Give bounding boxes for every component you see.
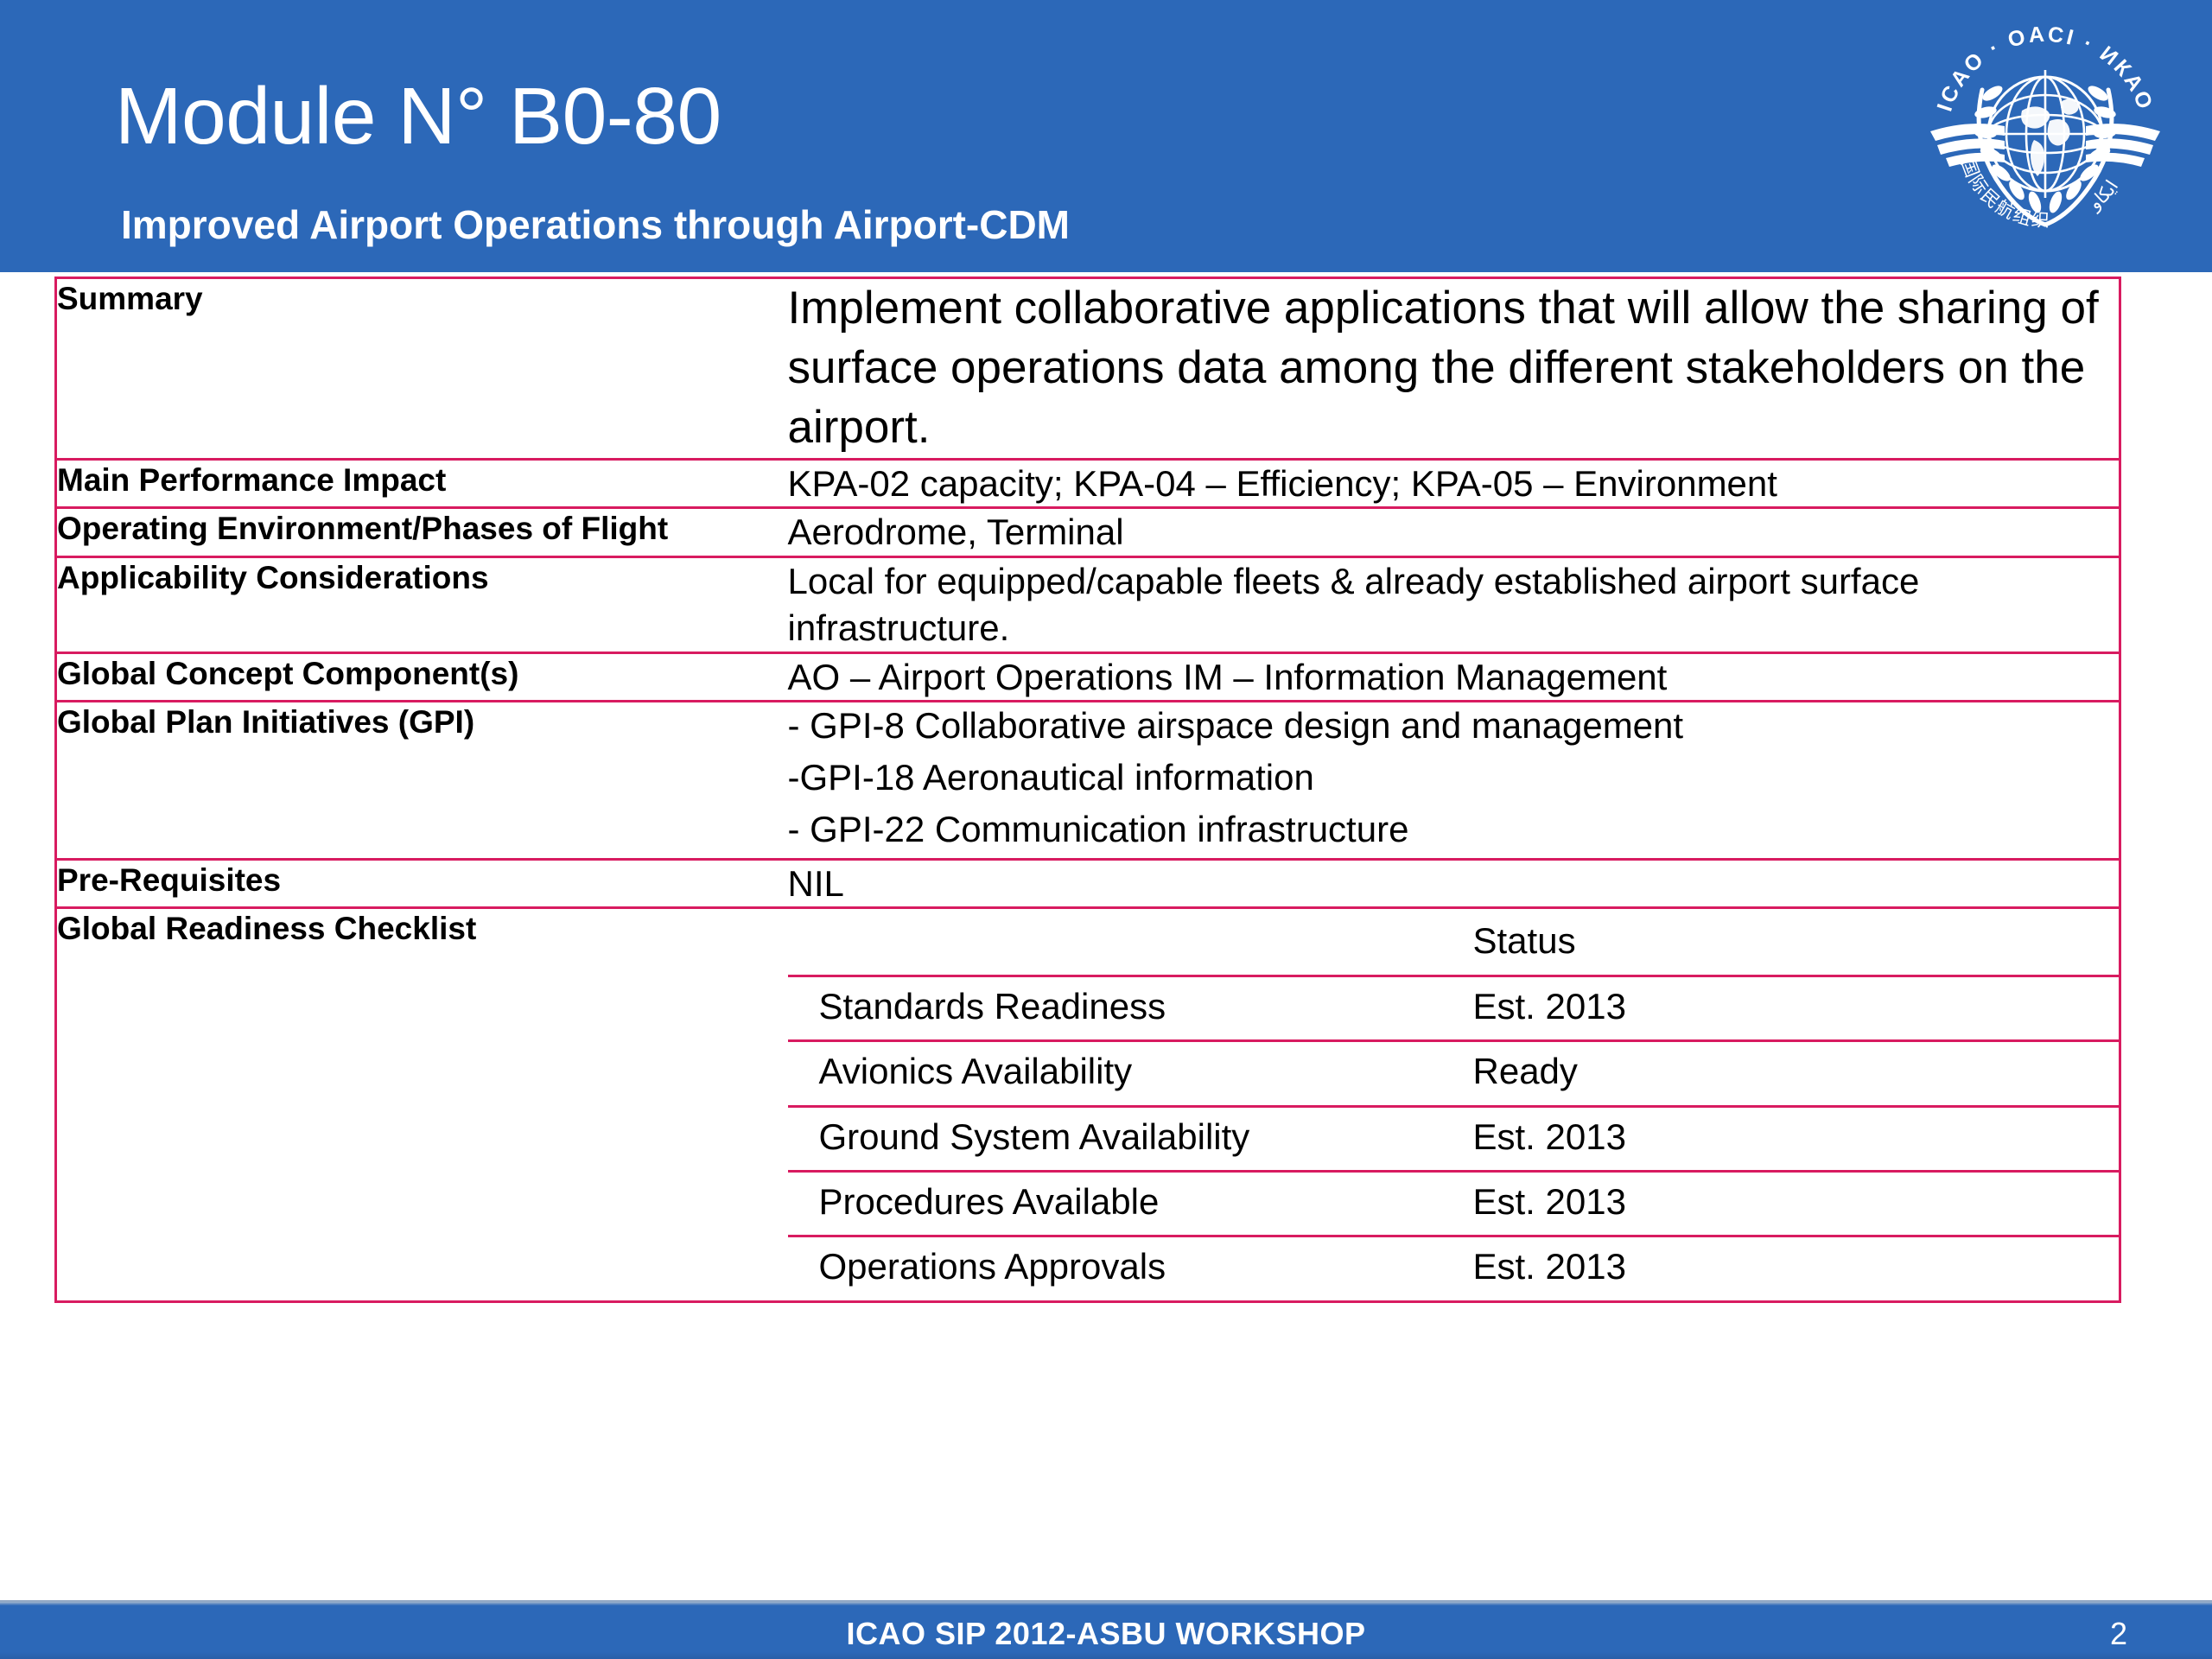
checklist-row: Operations Approvals Est. 2013 (788, 1236, 2120, 1300)
checklist-spacer (788, 909, 804, 976)
row-value: AO – Airport Operations IM – Information… (788, 652, 2120, 702)
table-row-main-performance-impact: Main Performance Impact KPA-02 capacity;… (56, 459, 2120, 508)
row-value: KPA-02 capacity; KPA-04 – Efficiency; KP… (788, 459, 2120, 508)
readiness-checklist-table: Status Standards Readiness Est. 2013 Avi… (788, 909, 2120, 1300)
row-label: Main Performance Impact (56, 459, 788, 508)
row-value: Aerodrome, Terminal (788, 508, 2120, 557)
slide-header: Module N° B0-80 Improved Airport Operati… (0, 0, 2212, 272)
checklist-spacer (788, 1106, 804, 1171)
slide-footer: ICAO SIP 2012-ASBU WORKSHOP 2 (0, 1600, 2212, 1659)
row-label: Global Readiness Checklist (56, 908, 788, 1301)
row-label: Global Concept Component(s) (56, 652, 788, 702)
table-row-applicability-considerations: Applicability Considerations Local for e… (56, 557, 2120, 653)
checklist-status-header: Status (1473, 909, 2120, 976)
checklist-spacer (788, 976, 804, 1040)
checklist-item-name: Operations Approvals (804, 1236, 1473, 1300)
checklist-item-status: Est. 2013 (1473, 976, 2120, 1040)
checklist-item-status: Est. 2013 (1473, 1171, 2120, 1236)
checklist-row: Avionics Availability Ready (788, 1041, 2120, 1106)
checklist-item-status: Est. 2013 (1473, 1236, 2120, 1300)
row-label: Global Plan Initiatives (GPI) (56, 702, 788, 859)
checklist-item-name: Standards Readiness (804, 976, 1473, 1040)
page-title: Module N° B0-80 (115, 76, 721, 156)
row-value-list: - GPI-8 Collaborative airspace design an… (788, 702, 2120, 859)
checklist-item-name: Avionics Availability (804, 1041, 1473, 1106)
icao-emblem-icon: ICAO · OACI · ИКАО 国际民航组织 ايكاو (1920, 10, 2171, 261)
gpi-line: -GPI-18 Aeronautical information (788, 754, 2120, 801)
checklist-spacer (788, 1171, 804, 1236)
gpi-line: - GPI-22 Communication infrastructure (788, 806, 2120, 853)
readiness-checklist-cell: Status Standards Readiness Est. 2013 Avi… (788, 908, 2120, 1301)
checklist-item-name: Ground System Availability (804, 1106, 1473, 1171)
footer-title: ICAO SIP 2012-ASBU WORKSHOP (0, 1616, 2212, 1652)
checklist-header-row: Status (788, 909, 2120, 976)
table-row-global-plan-initiatives: Global Plan Initiatives (GPI) - GPI-8 Co… (56, 702, 2120, 859)
checklist-row: Ground System Availability Est. 2013 (788, 1106, 2120, 1171)
table-row-global-readiness-checklist: Global Readiness Checklist Status (56, 908, 2120, 1301)
table-row-summary: Summary Implement collaborative applicat… (56, 278, 2120, 460)
page-number: 2 (2110, 1616, 2127, 1652)
checklist-item-name: Procedures Available (804, 1171, 1473, 1236)
row-value: Implement collaborative applications tha… (788, 278, 2120, 460)
table-row-global-concept-components: Global Concept Component(s) AO – Airport… (56, 652, 2120, 702)
checklist-spacer (788, 1041, 804, 1106)
row-label: Summary (56, 278, 788, 460)
gpi-line: - GPI-8 Collaborative airspace design an… (788, 702, 2120, 749)
checklist-row: Standards Readiness Est. 2013 (788, 976, 2120, 1040)
row-value: Local for equipped/capable fleets & alre… (788, 557, 2120, 653)
row-value: NIL (788, 859, 2120, 908)
row-label: Applicability Considerations (56, 557, 788, 653)
row-label: Pre-Requisites (56, 859, 788, 908)
checklist-item-status: Est. 2013 (1473, 1106, 2120, 1171)
page-subtitle: Improved Airport Operations through Airp… (121, 205, 1070, 245)
table-row-operating-environment: Operating Environment/Phases of Flight A… (56, 508, 2120, 557)
checklist-item-status: Ready (1473, 1041, 2120, 1106)
checklist-row: Procedures Available Est. 2013 (788, 1171, 2120, 1236)
table-row-pre-requisites: Pre-Requisites NIL (56, 859, 2120, 908)
module-details-table: Summary Implement collaborative applicat… (54, 276, 2121, 1303)
checklist-spacer (788, 1236, 804, 1300)
checklist-name-header (804, 909, 1473, 976)
row-label: Operating Environment/Phases of Flight (56, 508, 788, 557)
